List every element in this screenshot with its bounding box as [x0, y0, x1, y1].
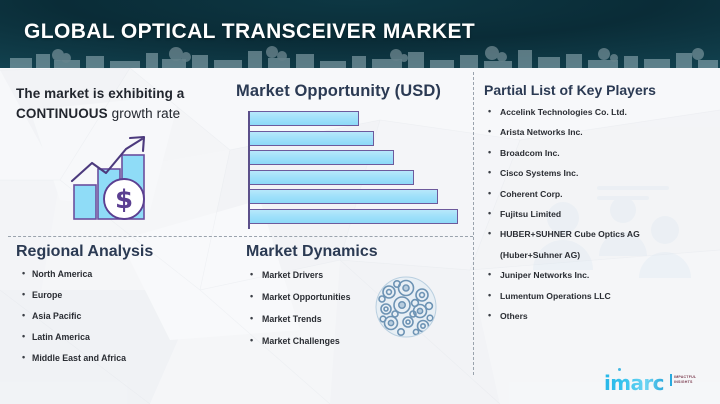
bar-5 [248, 189, 438, 204]
city-skyline-icon [0, 42, 720, 68]
list-item: •Cisco Systems Inc. [484, 168, 714, 178]
list-item-label: Coherent Corp. [500, 189, 563, 199]
bullet-icon: • [488, 106, 491, 116]
bullet-icon: • [250, 335, 253, 345]
bar-row [248, 189, 466, 204]
bullet-icon: • [22, 352, 25, 362]
bar-3 [248, 150, 394, 165]
list-item: •Broadcom Inc. [484, 148, 714, 158]
list-item: •Latin America [16, 332, 226, 342]
list-item: •HUBER+SUHNER Cube Optics AG [484, 229, 714, 239]
bar-4 [248, 170, 414, 185]
list-item-label: Arista Networks Inc. [500, 127, 583, 137]
list-item: (Huber+Suhner AG) [484, 250, 714, 260]
key-players-title: Partial List of Key Players [484, 82, 714, 98]
regional-analysis-title: Regional Analysis [16, 243, 226, 261]
list-item: •Asia Pacific [16, 311, 226, 321]
bar-2 [248, 131, 374, 146]
list-item-label: Europe [32, 290, 62, 300]
bullet-icon: • [250, 313, 253, 323]
list-item-label: HUBER+SUHNER Cube Optics AG [500, 229, 640, 239]
bullet-icon: • [250, 269, 253, 279]
market-opportunity-title: Market Opportunity (USD) [236, 82, 466, 101]
svg-text:$: $ [115, 185, 133, 215]
list-item: •Others [484, 311, 714, 321]
gears-cluster-circle-icon [375, 276, 437, 338]
headline-block: The market is exhibiting a CONTINUOUS gr… [16, 84, 226, 124]
list-item-label: Accelink Technologies Co. Ltd. [500, 107, 627, 117]
opportunity-bar-chart [236, 111, 466, 229]
slide-canvas: GLOBAL OPTICAL TRANSCEIVER MARKET The ma… [0, 0, 720, 404]
bullet-icon: • [488, 269, 491, 279]
growth-bar-chart-dollar-icon: $ [68, 133, 164, 225]
bar-row [248, 131, 466, 146]
key-players-list: •Accelink Technologies Co. Ltd.•Arista N… [484, 107, 714, 321]
market-dynamics-block: Market Dynamics •Market Drivers•Market O… [246, 243, 466, 358]
bullet-icon: • [22, 331, 25, 341]
bar-row [248, 150, 466, 165]
bullet-icon: • [250, 291, 253, 301]
regional-analysis-list: •North America•Europe•Asia Pacific•Latin… [16, 269, 226, 363]
headline-line-1: The market is exhibiting a [16, 84, 226, 104]
chart-axis [248, 111, 250, 229]
regional-analysis-block: Regional Analysis •North America•Europe•… [16, 243, 226, 374]
logo-tagline-line-2: INSIGHTS [674, 380, 708, 385]
bullet-icon: • [488, 147, 491, 157]
page-title: GLOBAL OPTICAL TRANSCEIVER MARKET [24, 20, 475, 44]
headline-emphasis: CONTINUOUS [16, 106, 108, 121]
list-item-label: Juniper Networks Inc. [500, 270, 589, 280]
bullet-icon: • [488, 167, 491, 177]
imarc-logo: imarc IMPACTFUL INSIGHTS [604, 368, 706, 394]
list-item-label: Market Drivers [262, 270, 323, 280]
bar-row [248, 170, 466, 185]
list-item: •Accelink Technologies Co. Ltd. [484, 107, 714, 117]
bullet-icon: • [488, 208, 491, 218]
list-item: •Juniper Networks Inc. [484, 270, 714, 280]
bullet-icon: • [488, 228, 491, 238]
list-item: •North America [16, 269, 226, 279]
list-item-label: Latin America [32, 332, 90, 342]
bullet-icon: • [22, 268, 25, 278]
market-dynamics-title: Market Dynamics [246, 243, 466, 261]
list-item-label: (Huber+Suhner AG) [500, 250, 580, 260]
key-players-block: Partial List of Key Players •Accelink Te… [484, 82, 714, 331]
logo-tagline: IMPACTFUL INSIGHTS [674, 375, 708, 385]
market-opportunity-block: Market Opportunity (USD) [236, 82, 466, 229]
list-item-label: Cisco Systems Inc. [500, 168, 578, 178]
list-item-label: Market Opportunities [262, 292, 350, 302]
list-item-label: Broadcom Inc. [500, 148, 560, 158]
vertical-divider [473, 72, 474, 375]
list-item-label: North America [32, 269, 92, 279]
bullet-icon: • [488, 188, 491, 198]
bullet-icon: • [22, 310, 25, 320]
logo-wordmark: imarc [604, 371, 664, 395]
headline-line-2: CONTINUOUS growth rate [16, 104, 226, 124]
bar-6 [248, 209, 458, 224]
bullet-icon: • [488, 290, 491, 300]
headline-line-2-rest: growth rate [108, 106, 180, 121]
header-band: GLOBAL OPTICAL TRANSCEIVER MARKET [0, 0, 720, 68]
list-item: •Coherent Corp. [484, 189, 714, 199]
list-item-label: Market Trends [262, 314, 322, 324]
bullet-icon: • [488, 310, 491, 320]
list-item: •Lumentum Operations LLC [484, 291, 714, 301]
bar-row [248, 209, 466, 224]
list-item-label: Asia Pacific [32, 311, 81, 321]
list-item-label: Middle East and Africa [32, 353, 126, 363]
horizontal-divider [8, 236, 473, 237]
bar-row [248, 111, 466, 126]
list-item-label: Others [500, 311, 528, 321]
bar-1 [248, 111, 359, 126]
logo-separator [670, 374, 672, 386]
list-item-label: Market Challenges [262, 336, 340, 346]
list-item: •Fujitsu Limited [484, 209, 714, 219]
list-item: •Europe [16, 290, 226, 300]
bullet-icon: • [22, 289, 25, 299]
bullet-icon: • [488, 126, 491, 136]
list-item: •Middle East and Africa [16, 353, 226, 363]
list-item-label: Lumentum Operations LLC [500, 291, 611, 301]
list-item-label: Fujitsu Limited [500, 209, 561, 219]
list-item: •Arista Networks Inc. [484, 127, 714, 137]
